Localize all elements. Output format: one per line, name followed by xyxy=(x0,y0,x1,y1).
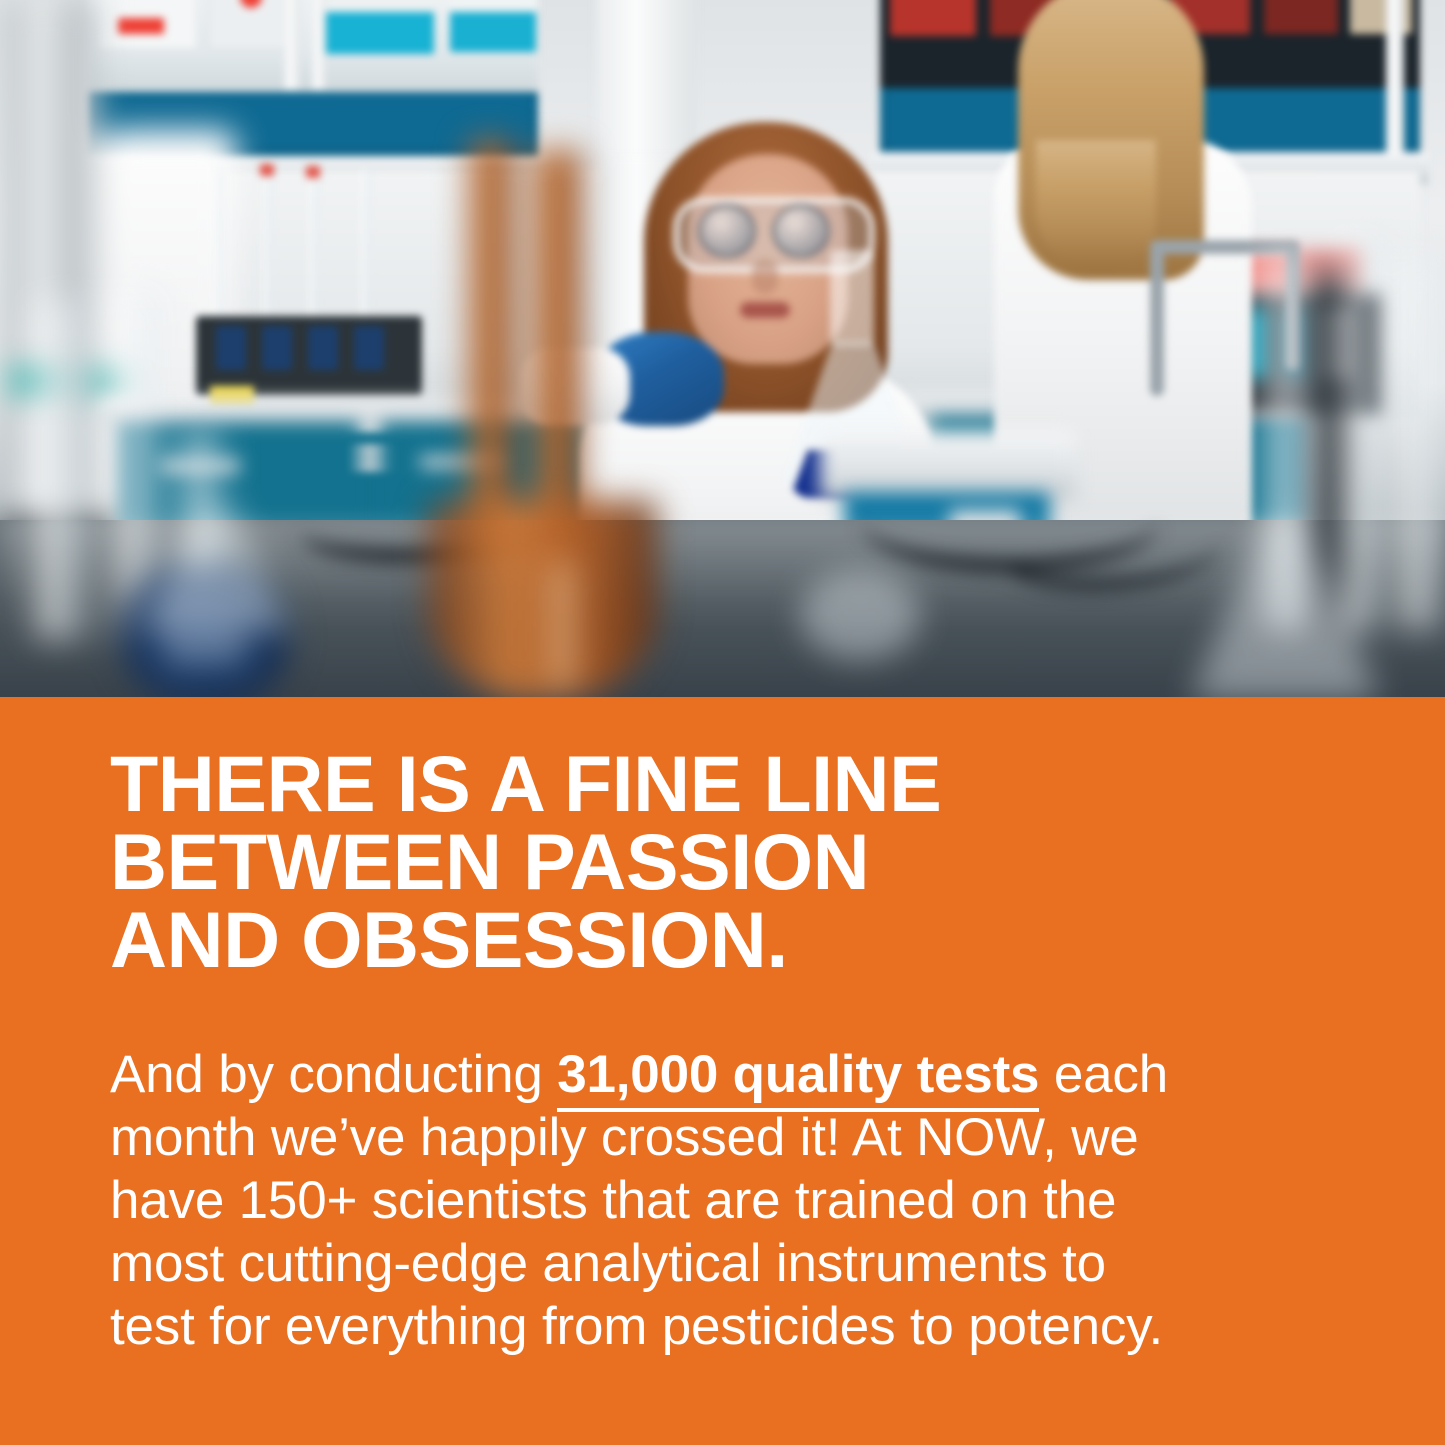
body-line-2: month we’ve happily crossed it! At NOW, … xyxy=(110,1106,1315,1169)
page-title: THERE IS A FINE LINE BETWEEN PASSION AND… xyxy=(110,745,1330,980)
headline-line-1: THERE IS A FINE LINE xyxy=(110,745,1330,823)
cabinet-item xyxy=(450,0,536,12)
stat-emphasis: 31,000 quality tests xyxy=(557,1045,1039,1112)
amber-volumetric-flask-neck xyxy=(468,140,514,560)
cabinet-item xyxy=(316,0,434,12)
body-copy: And by conducting 31,000 quality tests e… xyxy=(110,1043,1315,1358)
body-line-1-before: And by conducting xyxy=(110,1045,557,1104)
body-line-3: have 150+ scientists that are trained on… xyxy=(110,1169,1315,1232)
small-flask-center xyxy=(800,570,920,660)
headline-line-2: BETWEEN PASSION xyxy=(110,823,1330,901)
body-line-1: And by conducting 31,000 quality tests e… xyxy=(110,1043,1315,1106)
body-line-1-after: each xyxy=(1039,1045,1168,1104)
graduated-cylinder xyxy=(1396,260,1445,630)
lab-photo: 500 xyxy=(0,0,1445,697)
promo-card: 500 THERE IS A FINE LINE BETWEEN PASSION… xyxy=(0,0,1445,1445)
amber-volumetric-flask-body xyxy=(428,500,658,697)
foreground-glassware: 500 xyxy=(0,140,1445,697)
graduated-cylinder xyxy=(30,300,92,640)
body-line-5: test for everything from pesticides to p… xyxy=(110,1295,1315,1358)
amber-flask-highlight xyxy=(552,560,574,690)
headline-line-3: AND OBSESSION. xyxy=(110,901,1330,979)
orange-text-panel: THERE IS A FINE LINE BETWEEN PASSION AND… xyxy=(0,697,1445,1445)
body-line-4: most cutting-edge analytical instruments… xyxy=(110,1232,1315,1295)
